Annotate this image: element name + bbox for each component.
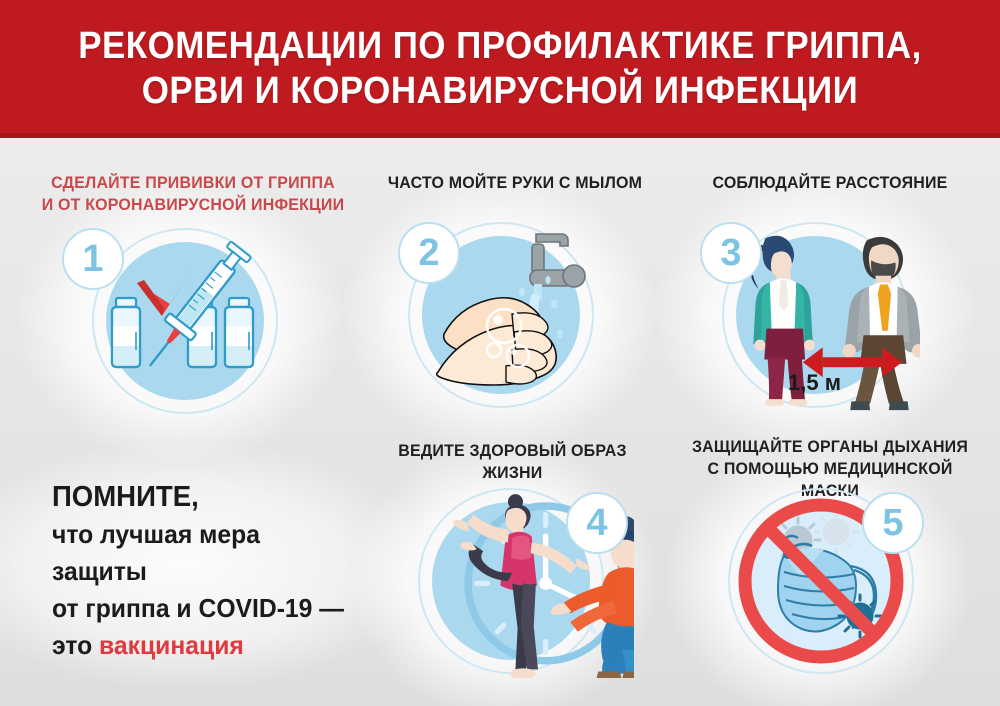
poster-title-line2: ОРВИ И КОРОНАВИРУСНОЙ ИНФЕКЦИИ bbox=[40, 69, 960, 114]
poster-title-line1: РЕКОМЕНДАЦИИ ПО ПРОФИЛАКТИКЕ ГРИППА, bbox=[40, 24, 960, 69]
caption-item-5-line1: ЗАЩИЩАЙТЕ ОРГАНЫ ДЫХАНИЯ bbox=[684, 436, 975, 458]
infographic-poster: РЕКОМЕНДАЦИИ ПО ПРОФИЛАКТИКЕ ГРИППА, ОРВ… bbox=[0, 0, 1000, 706]
remember-line1: ПОМНИТЕ, bbox=[52, 478, 356, 516]
caption-item-1-line2: И ОТ КОРОНАВИРУСНОЙ ИНФЕКЦИИ bbox=[38, 194, 348, 216]
caption-item-1: СДЕЛАЙТЕ ПРИВИВКИ ОТ ГРИППА И ОТ КОРОНАВ… bbox=[38, 172, 348, 216]
caption-item-2-line1: ЧАСТО МОЙТЕ РУКИ С МЫЛОМ bbox=[374, 172, 656, 194]
badge-number-3: 3 bbox=[700, 222, 762, 284]
caption-item-3: СОБЛЮДАЙТЕ РАССТОЯНИЕ bbox=[689, 172, 971, 194]
remember-line4-prefix: это bbox=[52, 630, 99, 660]
caption-item-2: ЧАСТО МОЙТЕ РУКИ С МЫЛОМ bbox=[374, 172, 656, 194]
poster-header: РЕКОМЕНДАЦИИ ПО ПРОФИЛАКТИКЕ ГРИППА, ОРВ… bbox=[0, 0, 1000, 138]
remember-line2: что лучшая мера защиты bbox=[52, 516, 356, 590]
badge-number-1: 1 bbox=[62, 228, 124, 290]
poster-title: РЕКОМЕНДАЦИИ ПО ПРОФИЛАКТИКЕ ГРИППА, ОРВ… bbox=[40, 24, 960, 114]
caption-item-3-line1: СОБЛЮДАЙТЕ РАССТОЯНИЕ bbox=[689, 172, 971, 194]
distance-label: 1,5 м bbox=[788, 370, 841, 396]
badge-number-4: 4 bbox=[566, 492, 628, 554]
badge-number-5: 5 bbox=[862, 492, 924, 554]
remember-line3: от гриппа и COVID-19 — bbox=[52, 590, 356, 627]
remember-line4: это вакцинация bbox=[52, 627, 356, 664]
remember-highlight-vaccination: вакцинация bbox=[99, 630, 244, 660]
caption-item-1-line1: СДЕЛАЙТЕ ПРИВИВКИ ОТ ГРИППА bbox=[38, 172, 348, 194]
badge-number-2: 2 bbox=[398, 222, 460, 284]
remember-block: ПОМНИТЕ, что лучшая мера защиты от грипп… bbox=[52, 478, 356, 664]
